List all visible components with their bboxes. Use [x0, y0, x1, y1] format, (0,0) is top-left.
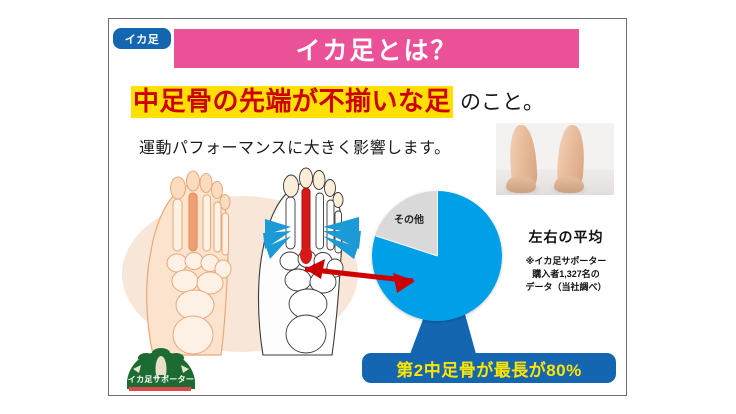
page-title: イカ足とは？ [174, 31, 579, 67]
category-badge-label: イカ足 [125, 31, 160, 47]
brand-logo-text: イカ足サポーター [109, 374, 213, 385]
photo-heel-right [554, 176, 584, 193]
chart-footnote-line-1: ※イカ足サポーター [507, 255, 625, 268]
chart-footnote: ※イカ足サポーター 購入者1,327名の データ（当社調べ） [507, 255, 625, 293]
chart-footnote-line-2: 購入者1,327名の [507, 268, 625, 281]
category-badge: イカ足 [113, 28, 171, 49]
chart-side-info: 左右の平均 ※イカ足サポーター 購入者1,327名の データ（当社調べ） [507, 227, 625, 293]
left-foot-normal [147, 171, 231, 355]
headline-tail: のこと。 [460, 86, 544, 118]
headline-highlight: 中足骨の先端が不揃いな足 [131, 86, 453, 118]
red-connector-arrow [279, 255, 439, 295]
subtitle-text: 運動パフォーマンスに大きく影響します。 [139, 134, 451, 158]
chart-side-heading: 左右の平均 [507, 227, 625, 247]
chart-footnote-line-3: データ（当社調べ） [507, 281, 625, 294]
right-second-metatarsal-highlight [302, 188, 310, 252]
brand-logo: イカ足サポーター [109, 339, 213, 395]
left-second-metatarsal [189, 193, 197, 251]
result-callout-box: 第2中足骨が最長が80% [362, 353, 616, 383]
result-callout-text: 第2中足骨が最長が80% [396, 356, 581, 381]
title-bar: イカ足とは？ [174, 29, 579, 68]
slide-frame: イカ足 イカ足とは？ 中足骨の先端が不揃いな足 のこと。 運動パフォーマンスに大… [108, 18, 627, 396]
pie-separator-top [437, 191, 438, 256]
bare-feet-photo [496, 123, 614, 195]
photo-heel-left [506, 176, 536, 193]
brand-logo-underline [129, 387, 191, 391]
headline: 中足骨の先端が不揃いな足 のこと。 [131, 82, 611, 118]
pie-slice-label-other: その他 [394, 211, 424, 226]
